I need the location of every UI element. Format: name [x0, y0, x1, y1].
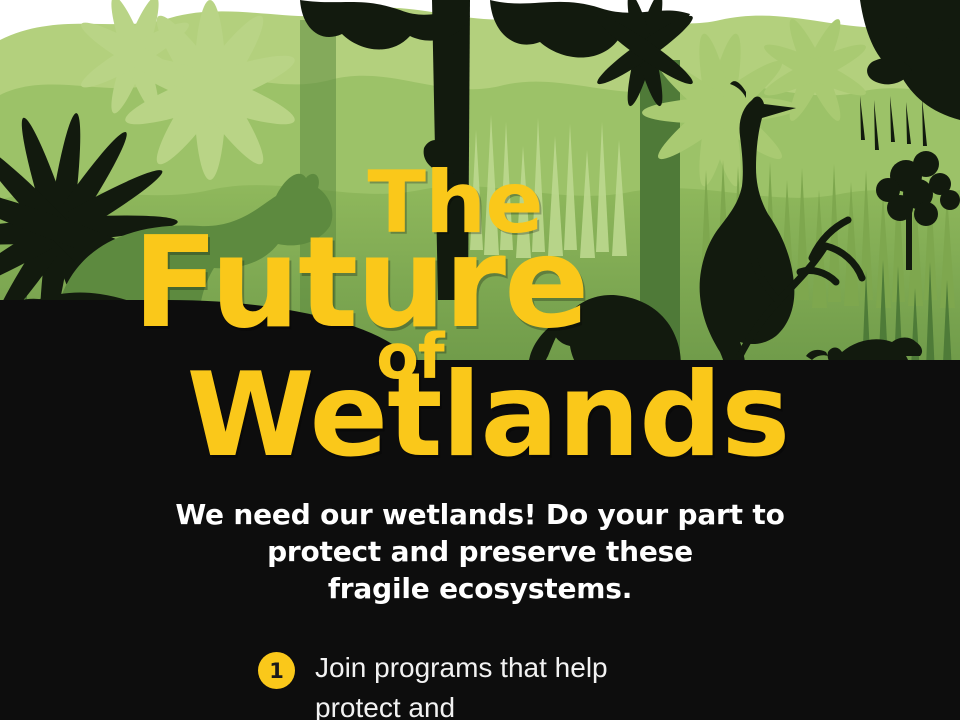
- subtitle-line-2: protect and preserve these: [0, 534, 960, 571]
- poster-subtitle: We need our wetlands! Do your part to pr…: [0, 497, 960, 608]
- tip-number-badge: 1: [258, 652, 295, 689]
- list-item: 1 Join programs that help protect and: [258, 648, 898, 720]
- tips-list: 1 Join programs that help protect and: [258, 648, 898, 720]
- subtitle-line-3: fragile ecosystems.: [0, 571, 960, 608]
- scene-lower-mask: [0, 360, 960, 500]
- subtitle-line-1: We need our wetlands! Do your part to: [0, 497, 960, 534]
- poster-root: The Future of Wetlands We need our wetla…: [0, 0, 960, 720]
- tip-text: Join programs that help protect and: [315, 648, 655, 720]
